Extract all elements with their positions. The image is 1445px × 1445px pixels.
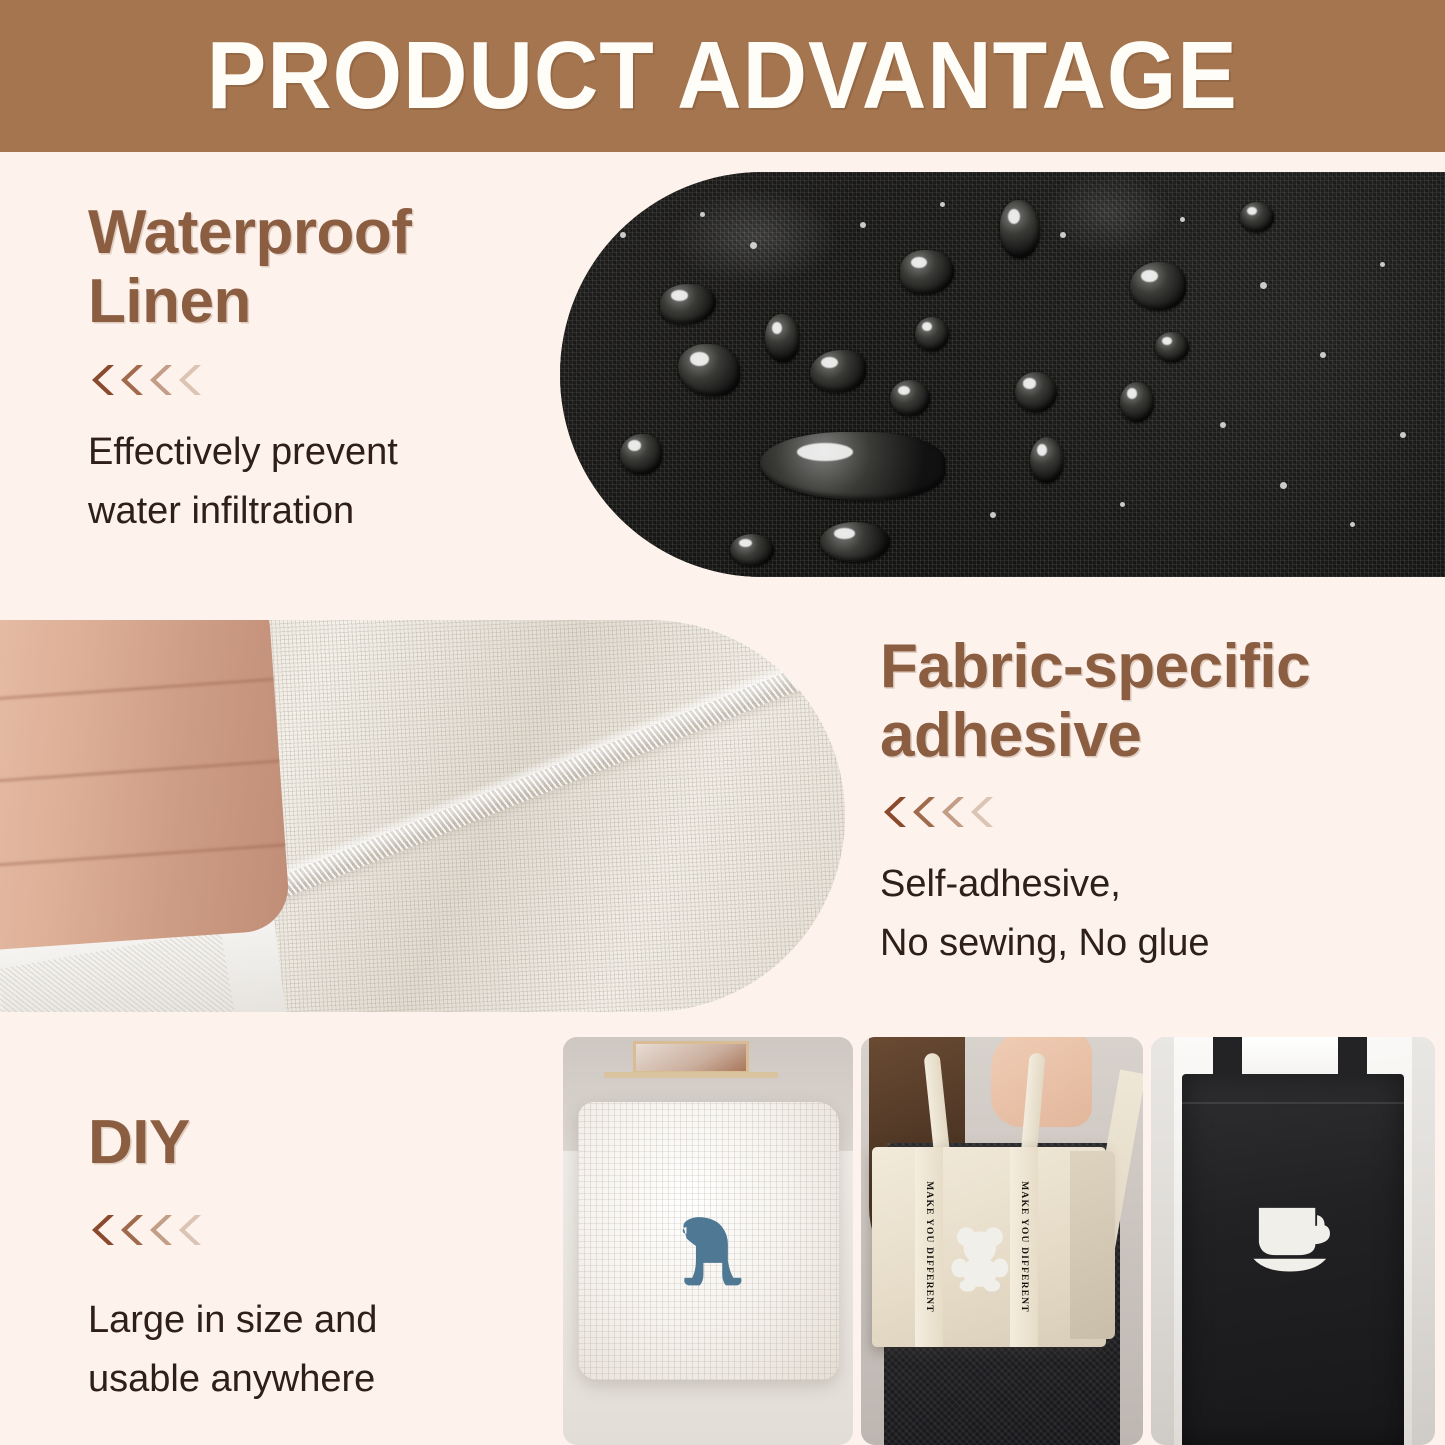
tote-bag-side-panel bbox=[1070, 1151, 1115, 1339]
water-mist bbox=[1220, 422, 1226, 428]
teddy-bear-silhouette-patch bbox=[946, 1200, 1014, 1314]
linen-fabric-image bbox=[0, 620, 845, 1012]
feature-adhesive-text: Fabric-specific adhesive Self-adhesive, … bbox=[880, 632, 1420, 973]
water-mist bbox=[1180, 217, 1185, 222]
feature-body-line1: Self-adhesive, bbox=[880, 855, 1420, 914]
chevron-left-icon bbox=[88, 1213, 114, 1247]
chevron-decoration bbox=[88, 363, 548, 397]
water-mist bbox=[1260, 282, 1267, 289]
header-banner: PRODUCT ADVANTAGE bbox=[0, 0, 1445, 152]
water-droplet bbox=[1155, 332, 1189, 362]
chevron-left-icon bbox=[175, 1213, 201, 1247]
chevron-left-icon bbox=[146, 1213, 172, 1247]
water-mist bbox=[750, 242, 757, 249]
chevron-left-icon bbox=[117, 363, 143, 397]
chevron-decoration bbox=[880, 795, 1420, 829]
water-mist bbox=[1060, 232, 1066, 238]
chevron-left-icon bbox=[117, 1213, 143, 1247]
chevron-left-icon bbox=[175, 363, 201, 397]
apron-seam bbox=[1182, 1102, 1404, 1104]
table-edge bbox=[604, 1072, 778, 1078]
feature-body-line1: Large in size and bbox=[88, 1291, 528, 1350]
finger-crease bbox=[0, 760, 279, 784]
feature-heading-line1: Waterproof bbox=[88, 198, 548, 267]
water-droplet bbox=[765, 314, 799, 362]
feature-heading-line2: Linen bbox=[88, 267, 548, 336]
chevron-left-icon bbox=[967, 795, 993, 829]
water-droplet bbox=[890, 380, 930, 416]
feature-heading-line2: adhesive bbox=[880, 701, 1420, 770]
water-mist bbox=[1350, 522, 1355, 527]
finger-crease bbox=[0, 843, 285, 867]
water-mist bbox=[1400, 432, 1406, 438]
water-droplet bbox=[1130, 262, 1186, 310]
water-mist bbox=[620, 232, 626, 238]
strap-text-left: MAKE YOU DIFFERENT bbox=[924, 1181, 934, 1313]
hand-holding-fabric bbox=[0, 620, 291, 950]
water-mist bbox=[1320, 352, 1326, 358]
teacup-silhouette-patch bbox=[1248, 1188, 1339, 1286]
chevron-left-icon bbox=[909, 795, 935, 829]
water-droplet bbox=[810, 350, 866, 392]
water-droplet bbox=[730, 534, 774, 566]
water-droplet bbox=[1015, 372, 1057, 412]
waterproof-fabric-image bbox=[560, 172, 1445, 577]
water-droplet bbox=[1030, 437, 1064, 483]
feature-body-line2: No sewing, No glue bbox=[880, 914, 1420, 973]
chevron-left-icon bbox=[880, 795, 906, 829]
feature-body-line1: Effectively prevent bbox=[88, 423, 548, 482]
water-droplet bbox=[915, 317, 949, 351]
tote-strap-right: MAKE YOU DIFFERENT bbox=[1010, 1147, 1038, 1347]
strap-text-right: MAKE YOU DIFFERENT bbox=[1019, 1181, 1029, 1313]
feature-diy-text: DIY Large in size and usable anywhere bbox=[88, 1108, 528, 1409]
water-mist bbox=[860, 222, 866, 228]
gallery-photo-pillow bbox=[563, 1037, 853, 1445]
feature-heading-line1: Fabric-specific bbox=[880, 632, 1420, 701]
water-mist bbox=[940, 202, 945, 207]
pillow bbox=[578, 1102, 839, 1379]
feature-body-line2: water infiltration bbox=[88, 482, 548, 541]
feature-heading-line1: DIY bbox=[88, 1108, 528, 1177]
water-mist bbox=[1380, 262, 1385, 267]
chevron-left-icon bbox=[938, 795, 964, 829]
feature-body-line2: usable anywhere bbox=[88, 1350, 528, 1409]
water-droplet bbox=[820, 522, 890, 562]
water-droplet bbox=[620, 434, 662, 474]
water-mist bbox=[700, 212, 705, 217]
dog-silhouette-patch bbox=[664, 1197, 758, 1302]
water-mist bbox=[990, 512, 996, 518]
water-droplet bbox=[1000, 200, 1040, 258]
water-mist bbox=[1120, 502, 1125, 507]
chevron-decoration bbox=[88, 1213, 528, 1247]
feature-waterproof-text: Waterproof Linen Effectively prevent wat… bbox=[88, 198, 548, 541]
gallery-photo-apron bbox=[1151, 1037, 1435, 1445]
page-title: PRODUCT ADVANTAGE bbox=[207, 28, 1238, 124]
tote-strap-left: MAKE YOU DIFFERENT bbox=[915, 1147, 943, 1347]
chevron-left-icon bbox=[146, 363, 172, 397]
water-mist bbox=[1280, 482, 1287, 489]
water-droplet bbox=[1120, 382, 1154, 422]
finger-crease bbox=[0, 678, 274, 702]
water-droplet bbox=[1240, 202, 1274, 232]
water-droplet bbox=[582, 178, 628, 218]
picture-frame bbox=[633, 1041, 749, 1073]
chevron-left-icon bbox=[88, 363, 114, 397]
gallery-photo-tote-bag: MAKE YOU DIFFERENT MAKE YOU DIFFERENT bbox=[861, 1037, 1143, 1445]
